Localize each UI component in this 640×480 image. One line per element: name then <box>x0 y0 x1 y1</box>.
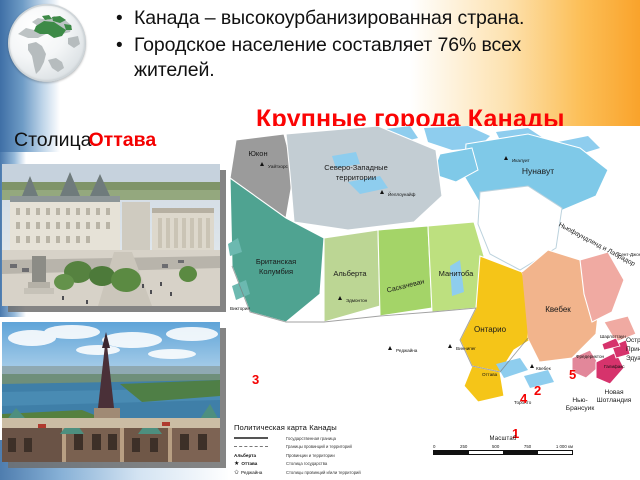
map-legend: Государственная граница Границы провинци… <box>234 434 424 477</box>
svg-text:Реджайна: Реджайна <box>396 347 418 353</box>
map-title: Политическая карта Канады <box>234 423 337 432</box>
svg-text:Квебек: Квебек <box>536 366 552 371</box>
svg-text:Виктория: Виктория <box>230 306 250 311</box>
scale-ticks: 0 250 500 750 1 000 км <box>433 444 573 449</box>
svg-text:Эдуарда: Эдуарда <box>626 355 640 362</box>
bullet-item: • Городское население составляет 76% все… <box>112 33 590 83</box>
star-icon: ★ <box>234 460 239 467</box>
svg-text:Квебек: Квебек <box>545 305 571 314</box>
svg-text:Манитоба: Манитоба <box>439 269 474 278</box>
legend-label: Государственная граница <box>286 436 336 441</box>
svg-text:Новая: Новая <box>604 389 624 396</box>
scale-tick: 750 <box>524 444 531 449</box>
svg-text:Нью-: Нью- <box>572 397 587 404</box>
bullet-list: • Канада – высокоурбанизированная страна… <box>112 6 590 85</box>
legend-key-province-name: Альберта <box>234 453 286 458</box>
svg-text:территории: территории <box>336 173 376 182</box>
svg-text:Шарлоттаун: Шарлоттаун <box>600 334 626 339</box>
scale-tick: 250 <box>460 444 467 449</box>
map-marker-4: 4 <box>520 392 527 405</box>
bullet-marker-icon: • <box>116 33 123 58</box>
map-marker-5: 5 <box>569 368 576 381</box>
svg-text:Уайтхорс: Уайтхорс <box>268 163 288 169</box>
legend-row: Границы провинций и территорий <box>234 443 424 452</box>
scale-title: Масштаб <box>433 436 573 442</box>
bullet-text: Канада – высокоурбанизированная страна. <box>134 7 524 29</box>
svg-text:Юкон: Юкон <box>248 149 267 158</box>
svg-text:Фредериктон: Фредериктон <box>576 354 605 359</box>
slide-canvas: • Канада – высокоурбанизированная страна… <box>0 0 640 480</box>
photo-ottawa-downtown <box>2 164 220 306</box>
scale-tick: 0 <box>433 444 435 449</box>
capital-line: СтолицаОттава <box>14 128 156 152</box>
legend-row: Альберта Провинции и территории <box>234 451 424 460</box>
globe-icon <box>8 4 86 82</box>
map-scale: Масштаб 0 250 500 750 1 000 км <box>433 436 573 455</box>
legend-key-dashed-line <box>234 446 286 447</box>
svg-text:Британская: Британская <box>256 257 296 266</box>
legend-label: Столица государства <box>286 461 327 466</box>
legend-label: Границы провинций и территорий <box>286 444 352 449</box>
legend-label: Провинции и территории <box>286 453 335 458</box>
scale-tick: 1 000 км <box>556 444 573 449</box>
bullet-item: • Канада – высокоурбанизированная страна… <box>112 6 590 31</box>
legend-row: ★Оттава Столица государства <box>234 460 424 469</box>
svg-text:Альберта: Альберта <box>333 269 367 278</box>
svg-text:Виннипег: Виннипег <box>456 346 476 351</box>
map-marker-3: 3 <box>252 373 259 386</box>
capital-city: Оттава <box>89 129 157 151</box>
svg-text:Северо-Западные: Северо-Западные <box>324 163 388 172</box>
svg-text:Нунавут: Нунавут <box>522 166 554 176</box>
map-marker-2: 2 <box>534 384 541 397</box>
svg-text:Остров: Остров <box>626 337 640 344</box>
legend-key-provincial-capital: ✩Реджайна <box>234 469 286 476</box>
circle-star-icon: ✩ <box>234 469 239 476</box>
svg-text:Йеллоунайф: Йеллоунайф <box>388 190 416 197</box>
svg-text:Онтарио: Онтарио <box>474 325 507 334</box>
svg-text:Эдмонтон: Эдмонтон <box>346 298 368 303</box>
svg-text:Колумбия: Колумбия <box>259 267 293 276</box>
svg-text:Шотландия: Шотландия <box>597 397 632 404</box>
legend-row: Государственная граница <box>234 434 424 443</box>
svg-text:Принца: Принца <box>626 346 640 353</box>
photo-parliament-hill <box>2 322 220 462</box>
legend-row: ✩Реджайна Столицы провинций и/или террит… <box>234 468 424 477</box>
svg-text:Оттава: Оттава <box>482 372 498 377</box>
map-political-canada: Юкон Северо-Западные территории Нунавут … <box>228 126 640 480</box>
svg-text:Галифакс: Галифакс <box>604 364 625 369</box>
legend-key-solid-line <box>234 437 286 439</box>
scale-tick: 500 <box>492 444 499 449</box>
legend-key-capital: ★Оттава <box>234 460 286 467</box>
svg-text:Икалуит: Икалуит <box>512 158 531 163</box>
bullet-marker-icon: • <box>116 6 123 31</box>
svg-text:Брансуик: Брансуик <box>566 405 595 412</box>
bullet-text: Городское население составляет 76% всех … <box>134 34 521 81</box>
capital-label: Столица <box>14 129 92 151</box>
svg-text:Сент-Джонс: Сент-Джонс <box>618 252 640 257</box>
scale-bar <box>433 450 573 455</box>
legend-label: Столицы провинций и/или территорий <box>286 470 361 475</box>
